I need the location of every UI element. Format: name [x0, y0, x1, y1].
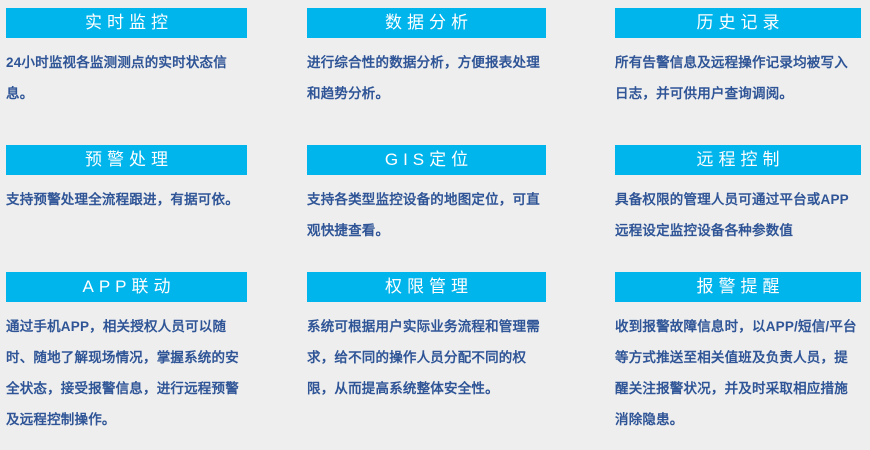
feature-description: 收到报警故障信息时，以APP/短信/平台等方式推送至相关值班及负责人员，提醒关注…: [615, 311, 861, 435]
feature-title-banner: 预警处理: [6, 145, 247, 175]
feature-card-history-records[interactable]: 历史记录 所有告警信息及远程操作记录均被写入日志，并可供用户查询调阅。: [580, 0, 870, 130]
feature-card-permission-management[interactable]: 权限管理 系统可根据用户实际业务流程和管理需求，给不同的操作人员分配不同的权限，…: [290, 265, 580, 450]
feature-description: 通过手机APP，相关授权人员可以随时、随地了解现场情况，掌握系统的安全状态，接受…: [6, 311, 247, 435]
feature-description: 所有告警信息及远程操作记录均被写入日志，并可供用户查询调阅。: [615, 47, 861, 109]
feature-card-data-analysis[interactable]: 数据分析 进行综合性的数据分析，方便报表处理和趋势分析。: [290, 0, 580, 130]
feature-card-app-linkage[interactable]: APP联动 通过手机APP，相关授权人员可以随时、随地了解现场情况，掌握系统的安…: [0, 265, 290, 450]
feature-title-banner: 报警提醒: [615, 272, 861, 302]
feature-description: 支持预警处理全流程跟进，有据可依。: [6, 184, 247, 215]
feature-card-early-warning-handling[interactable]: 预警处理 支持预警处理全流程跟进，有据可依。: [0, 130, 290, 265]
feature-description: 24小时监视各监测测点的实时状态信息。: [6, 47, 247, 109]
feature-card-gis-positioning[interactable]: GIS定位 支持各类型监控设备的地图定位，可直观快捷查看。: [290, 130, 580, 265]
feature-grid: 实时监控 24小时监视各监测测点的实时状态信息。 数据分析 进行综合性的数据分析…: [0, 0, 870, 450]
feature-description: 进行综合性的数据分析，方便报表处理和趋势分析。: [307, 47, 546, 109]
feature-title-banner: GIS定位: [307, 145, 546, 175]
feature-title-banner: 权限管理: [307, 272, 546, 302]
feature-title-banner: 远程控制: [615, 145, 861, 175]
feature-title-banner: APP联动: [6, 272, 247, 302]
feature-description: 支持各类型监控设备的地图定位，可直观快捷查看。: [307, 184, 546, 246]
feature-title-banner: 历史记录: [615, 8, 861, 38]
feature-description: 系统可根据用户实际业务流程和管理需求，给不同的操作人员分配不同的权限，从而提高系…: [307, 311, 546, 404]
feature-card-alarm-reminder[interactable]: 报警提醒 收到报警故障信息时，以APP/短信/平台等方式推送至相关值班及负责人员…: [580, 265, 870, 450]
feature-title-banner: 数据分析: [307, 8, 546, 38]
feature-description: 具备权限的管理人员可通过平台或APP远程设定监控设备各种参数值: [615, 184, 861, 246]
feature-card-realtime-monitoring[interactable]: 实时监控 24小时监视各监测测点的实时状态信息。: [0, 0, 290, 130]
feature-title-banner: 实时监控: [6, 8, 247, 38]
feature-card-remote-control[interactable]: 远程控制 具备权限的管理人员可通过平台或APP远程设定监控设备各种参数值: [580, 130, 870, 265]
